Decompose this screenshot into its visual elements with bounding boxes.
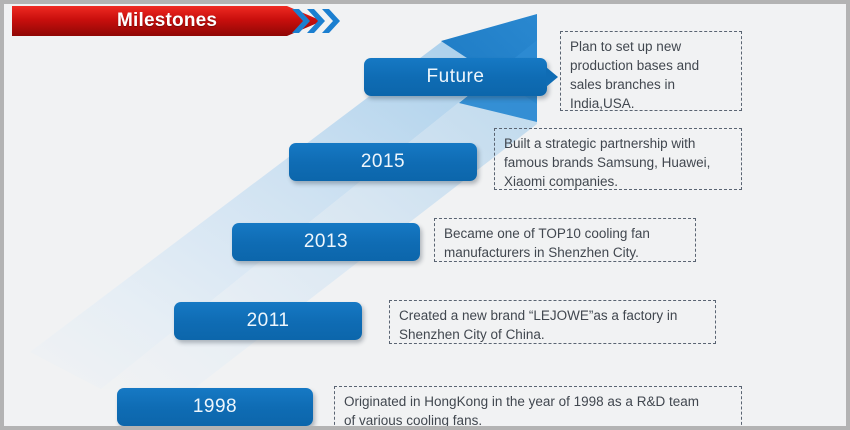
milestone-note-future: Plan to set up new production bases and … [560, 31, 742, 111]
milestone-label: 1998 [193, 396, 237, 417]
banner-arrow-shape [12, 6, 322, 36]
milestone-label: Future [427, 66, 485, 87]
milestone-label: 2011 [247, 310, 290, 331]
milestone-note-2015: Built a strategic partnership with famou… [494, 128, 742, 190]
callout-tail-icon [546, 67, 558, 87]
milestone-note-1998: Originated in HongKong in the year of 19… [334, 386, 742, 430]
milestone-pill-2011[interactable]: 2011 [174, 302, 362, 340]
milestone-pill-2013[interactable]: 2013 [232, 223, 420, 261]
milestone-note-2011: Created a new brand “LEJOWE”as a factory… [389, 300, 716, 344]
milestone-label: 2013 [304, 231, 348, 252]
milestone-label: 2015 [361, 151, 405, 172]
milestone-pill-1998[interactable]: 1998 [117, 388, 313, 426]
milestone-pill-future[interactable]: Future [364, 58, 547, 96]
header-banner: Milestones [12, 6, 342, 36]
milestone-note-2013: Became one of TOP10 cooling fan manufact… [434, 218, 696, 262]
milestones-infographic: Milestones Future Plan to set up new pro… [0, 0, 850, 430]
chevron-right-icon-group [292, 6, 350, 36]
milestone-pill-2015[interactable]: 2015 [289, 143, 477, 181]
